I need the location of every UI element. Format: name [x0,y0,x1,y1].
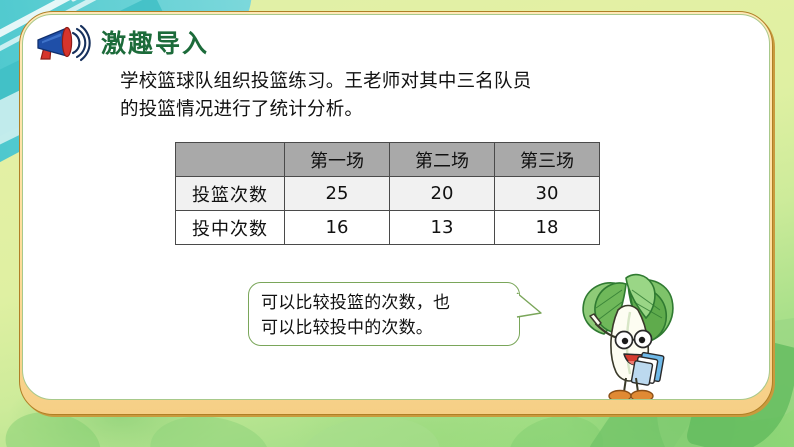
table-cell-r2c3: 18 [495,211,600,245]
page-title: 激趣导入 [101,31,209,56]
lesson-paragraph: 学校篮球队组织投篮练习。王老师对其中三名队员 的投篮情况进行了统计分析。 [120,68,640,124]
speech-bubble-line2: 可以比较投中的次数。 [261,316,511,341]
table-corner-cell [176,143,285,177]
table-header-cell-3: 第三场 [495,143,600,177]
speech-bubble: 可以比较投篮的次数，也 可以比较投中的次数。 [248,282,520,346]
slide-canvas: 激趣导入 学校篮球队组织投篮练习。王老师对其中三名队员 的投篮情况进行了统计分析… [0,0,794,447]
table-row: 投篮次数 25 20 30 [176,177,600,211]
megaphone-icon [33,23,91,63]
table-cell-r1c1: 25 [285,177,390,211]
speech-bubble-line1: 可以比较投篮的次数，也 [261,291,511,316]
cabbage-mascot-icon [568,270,684,400]
table-header-row: 第一场 第二场 第三场 [176,143,600,177]
table-cell-r2c1: 16 [285,211,390,245]
table-row-label-1: 投篮次数 [176,177,285,211]
lesson-paragraph-line2: 的投篮情况进行了统计分析。 [120,96,640,124]
table-header-cell-2: 第二场 [390,143,495,177]
table-row: 投中次数 16 13 18 [176,211,600,245]
table-row-label-2: 投中次数 [176,211,285,245]
content-card: 激趣导入 学校篮球队组织投篮练习。王老师对其中三名队员 的投篮情况进行了统计分析… [22,14,770,400]
section-header: 激趣导入 [33,23,209,63]
stats-table-wrapper: 第一场 第二场 第三场 投篮次数 25 20 30 投中次数 16 [175,142,600,245]
lesson-paragraph-line1: 学校篮球队组织投篮练习。王老师对其中三名队员 [120,68,640,96]
stats-table: 第一场 第二场 第三场 投篮次数 25 20 30 投中次数 16 [175,142,600,245]
speech-bubble-tail-icon [515,291,557,335]
table-cell-r1c2: 20 [390,177,495,211]
table-header-cell-1: 第一场 [285,143,390,177]
speech-bubble-text: 可以比较投篮的次数，也 可以比较投中的次数。 [261,291,511,340]
table-cell-r1c3: 30 [495,177,600,211]
table-cell-r2c2: 13 [390,211,495,245]
